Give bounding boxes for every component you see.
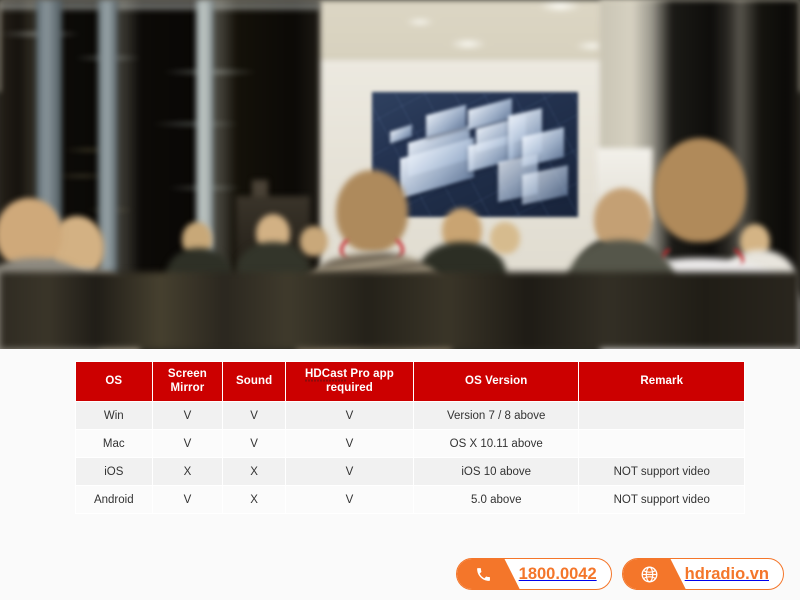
cell-remark: NOT support video [579, 486, 744, 513]
column-header-screen-mirror-line1: Screen [168, 368, 207, 380]
person-head [654, 138, 746, 242]
column-header-screen-mirror-line2: Mirror [170, 382, 204, 394]
cell-os: Win [76, 402, 152, 429]
cell-screen-mirror: V [153, 486, 223, 513]
cell-sound: V [223, 402, 285, 429]
column-header-os-label: OS [105, 375, 122, 387]
cell-app-required: V [286, 402, 413, 429]
phone-number-text: 1800.0042 [511, 565, 597, 584]
conference-hall-photo [0, 0, 800, 349]
table-row: Mac V V V OS X 10.11 above [76, 430, 744, 457]
cell-os: Mac [76, 430, 152, 457]
cell-screen-mirror: V [153, 430, 223, 457]
cell-sound: X [223, 458, 285, 485]
cell-sound: V [223, 430, 285, 457]
cell-screen-mirror: X [153, 458, 223, 485]
column-header-os: OS [76, 362, 152, 401]
person-head [300, 226, 328, 256]
cell-app-required: V [286, 458, 413, 485]
cell-app-required: V [286, 430, 413, 457]
cell-screen-mirror: V [153, 402, 223, 429]
person-head [490, 222, 520, 254]
website-badge[interactable]: hdradio.vn [622, 558, 784, 590]
website-text: hdradio.vn [677, 565, 769, 584]
column-header-os-version-label: OS Version [465, 375, 527, 387]
cell-os-version: 5.0 above [414, 486, 578, 513]
cell-os-version: OS X 10.11 above [414, 430, 578, 457]
phone-badge[interactable]: 1800.0042 [456, 558, 612, 590]
table-header-row: OS Screen Mirror Sound HDCast Pro app re… [76, 362, 744, 401]
page-root: OS Screen Mirror Sound HDCast Pro app re… [0, 0, 800, 600]
chair-backs-row [0, 272, 800, 349]
column-header-remark: Remark [579, 362, 744, 401]
phone-icon [457, 559, 511, 589]
column-header-hdcast-app: HDCast Pro app required [286, 362, 413, 401]
table-row: iOS X X V iOS 10 above NOT support video [76, 458, 744, 485]
column-header-hdcast-rest: Pro app [347, 368, 394, 380]
cell-os: Android [76, 486, 152, 513]
cell-remark [579, 430, 744, 457]
column-header-hdcast-word: HDCast [305, 368, 347, 382]
contact-bar: 1800.0042 hdradio.vn [456, 558, 784, 590]
table-row: Win V V V Version 7 / 8 above [76, 402, 744, 429]
cell-app-required: V [286, 486, 413, 513]
cell-sound: X [223, 486, 285, 513]
cell-os-version: iOS 10 above [414, 458, 578, 485]
cell-remark: NOT support video [579, 458, 744, 485]
column-header-os-version: OS Version [414, 362, 578, 401]
column-header-remark-label: Remark [640, 375, 683, 387]
column-header-sound: Sound [223, 362, 285, 401]
column-header-sound-label: Sound [236, 375, 272, 387]
globe-icon [623, 559, 677, 589]
os-compatibility-table: OS Screen Mirror Sound HDCast Pro app re… [75, 361, 745, 514]
column-header-hdcast-line2: required [326, 382, 373, 394]
cell-remark [579, 402, 744, 429]
table-row: Android V X V 5.0 above NOT support vide… [76, 486, 744, 513]
column-header-screen-mirror: Screen Mirror [153, 362, 223, 401]
cell-os-version: Version 7 / 8 above [414, 402, 578, 429]
cell-os: iOS [76, 458, 152, 485]
